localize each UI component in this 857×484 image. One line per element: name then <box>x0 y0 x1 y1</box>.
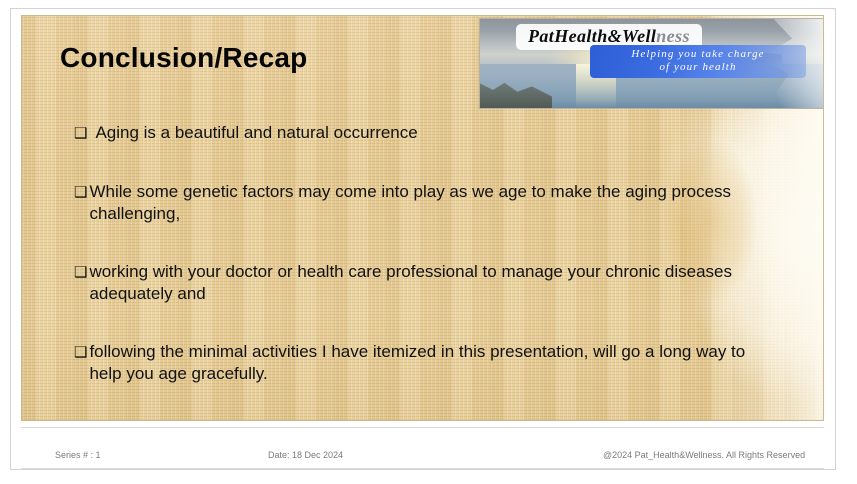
brand-tagline-plate: Helping you take charge of your health <box>590 45 806 78</box>
list-item-text: Aging is a beautiful and natural occurre… <box>95 122 417 144</box>
footer-series-label: Series # : 1 <box>55 450 101 460</box>
brand-title: PatHealth&Wellness <box>528 26 690 46</box>
list-item: ❑While some genetic factors may come int… <box>74 181 774 225</box>
square-bullet-icon: ❑ <box>74 342 87 364</box>
list-item-text: While some genetic factors may come into… <box>89 181 774 225</box>
footer-copyright-label: @2024 Pat_Health&Wellness. All Rights Re… <box>603 450 805 460</box>
list-item-text: following the minimal activities I have … <box>89 341 774 385</box>
list-item: ❑Aging is a beautiful and natural occurr… <box>74 122 774 145</box>
brand-title-faded: ness <box>656 26 690 46</box>
slide-page-frame: Conclusion/Recap PatHealth&Wellness Help… <box>10 8 836 470</box>
footer-bottom-rule <box>21 468 824 469</box>
bullet-list: ❑Aging is a beautiful and natural occurr… <box>74 122 774 421</box>
square-bullet-icon: ❑ <box>74 123 87 145</box>
list-item-text: working with your doctor or health care … <box>89 261 774 305</box>
square-bullet-icon: ❑ <box>74 262 87 284</box>
list-item: ❑working with your doctor or health care… <box>74 261 774 305</box>
slide-footer: Series # : 1 Date: 18 Dec 2024 @2024 Pat… <box>21 428 824 469</box>
brand-banner-image: PatHealth&Wellness Helping you take char… <box>479 18 824 109</box>
square-bullet-icon: ❑ <box>74 182 87 204</box>
footer-date-label: Date: 18 Dec 2024 <box>268 450 343 460</box>
brand-title-main: PatHealth&Well <box>528 26 656 46</box>
brand-tagline: Helping you take charge of your health <box>600 48 796 74</box>
page-title: Conclusion/Recap <box>60 42 307 74</box>
list-item: ❑following the minimal activities I have… <box>74 341 774 385</box>
presentation-slide: Conclusion/Recap PatHealth&Wellness Help… <box>21 15 824 421</box>
